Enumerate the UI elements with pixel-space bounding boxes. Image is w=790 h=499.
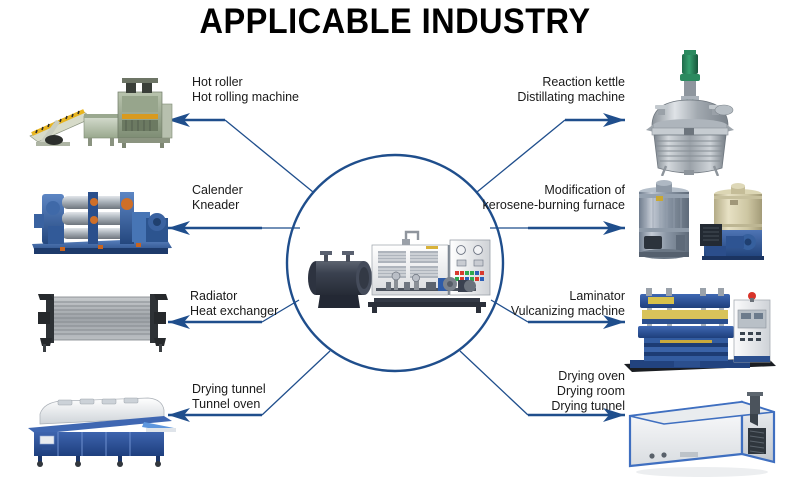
label-line: Hot roller [192, 75, 299, 90]
label-line: Drying oven [450, 369, 625, 384]
label-line: Heat exchanger [190, 304, 278, 319]
reaction-kettle-image [632, 48, 752, 176]
label-hot-roller: Hot roller Hot rolling machine [192, 75, 299, 105]
label-line: Laminator [440, 289, 625, 304]
label-line: Drying tunnel [192, 382, 266, 397]
label-line: Reaction kettle [440, 75, 625, 90]
radiator-heat-exchanger-image [24, 284, 179, 354]
calender-kneader-image [26, 178, 176, 262]
label-line: Tunnel oven [192, 397, 266, 412]
drying-tunnel-image [22, 388, 178, 468]
drying-oven-image [624, 392, 784, 482]
label-line: Drying tunnel [450, 399, 625, 414]
label-line: Distillating machine [440, 90, 625, 105]
label-line: Kneader [192, 198, 243, 213]
label-radiator: Radiator Heat exchanger [190, 289, 278, 319]
label-kerosene-furnace: Modification of kerosene-burning furnace [430, 183, 625, 213]
label-line: Hot rolling machine [192, 90, 299, 105]
label-line: Radiator [190, 289, 278, 304]
kerosene-burning-furnace-image [626, 178, 784, 270]
label-line: Drying room [450, 384, 625, 399]
hot-rolling-machine-image [22, 62, 174, 162]
label-drying-oven: Drying oven Drying room Drying tunnel [450, 369, 625, 414]
label-reaction-kettle: Reaction kettle Distillating machine [440, 75, 625, 105]
label-line: Calender [192, 183, 243, 198]
label-line: kerosene-burning furnace [430, 198, 625, 213]
label-calender: Calender Kneader [192, 183, 243, 213]
laminator-vulcanizing-machine-image [618, 280, 784, 376]
label-line: Vulcanizing machine [440, 304, 625, 319]
label-line: Modification of [430, 183, 625, 198]
label-drying-tunnel: Drying tunnel Tunnel oven [192, 382, 266, 412]
diagram-canvas: APPLICABLE INDUSTRY .thin{stroke:#1F4E8C… [0, 0, 790, 499]
label-laminator: Laminator Vulcanizing machine [440, 289, 625, 319]
